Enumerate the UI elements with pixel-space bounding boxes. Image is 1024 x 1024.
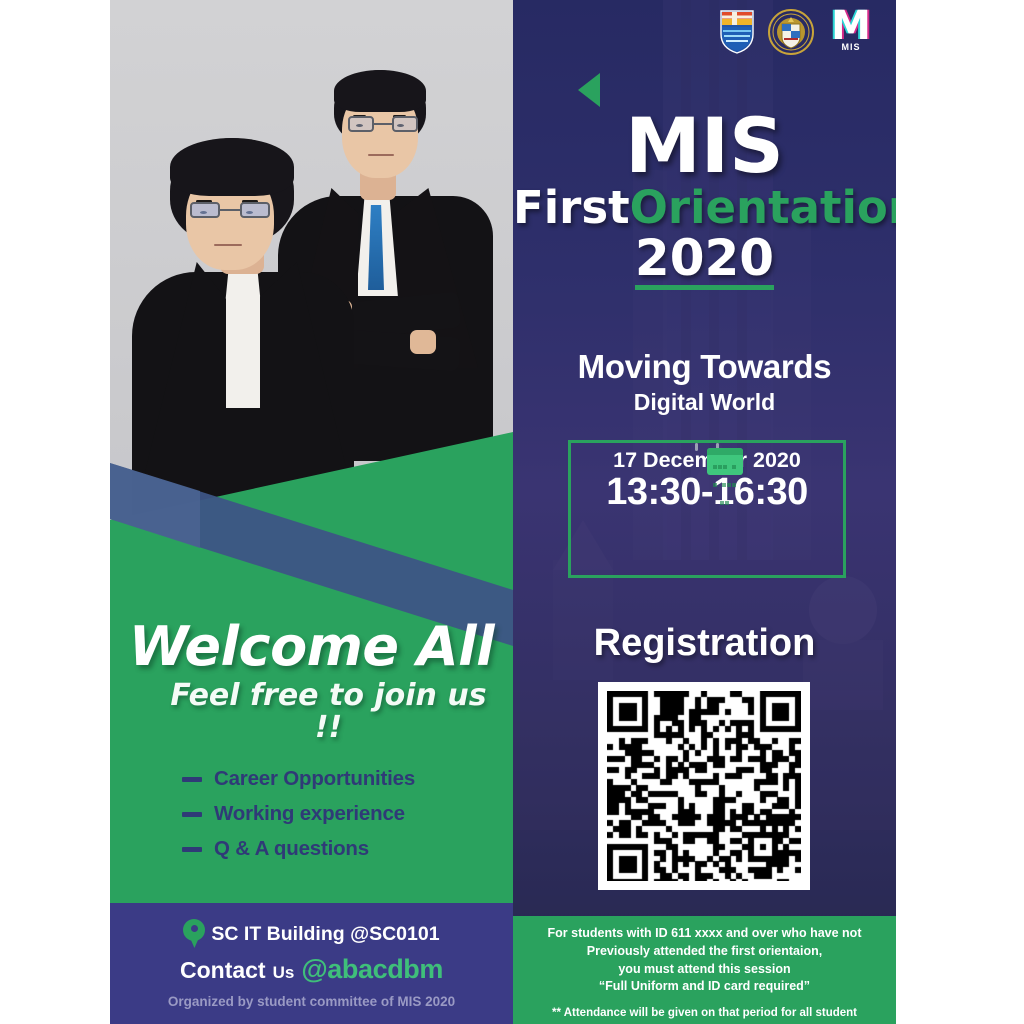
title-year-wrap: 2020 — [635, 233, 774, 290]
contact-label: Contact — [180, 957, 266, 984]
notice-footer: For students with ID 611 xxxx and over w… — [513, 916, 896, 1024]
location-pin-icon — [183, 919, 205, 949]
subtitle-secondary: Digital World — [513, 389, 896, 416]
right-column: M MIS MIS FirstOrientation 2020 Moving T… — [513, 0, 896, 1024]
list-item-label: Career Opportunities — [214, 767, 415, 791]
list-item-label: Q & A questions — [214, 837, 369, 861]
triangle-accent-icon — [578, 73, 600, 107]
subtitle-main: Moving Towards — [513, 348, 896, 386]
notice-line-2: Previously attended the first orientaion… — [525, 943, 884, 961]
mis-m-letter: M — [828, 8, 874, 44]
notice-line-3: you must attend this session — [525, 961, 884, 979]
welcome-heading: Welcome All — [124, 620, 499, 674]
registration-heading: Registration — [513, 622, 896, 665]
title-line-first-orientation: FirstOrientation — [513, 184, 896, 231]
notice-line-4: “Full Uniform and ID card required” — [525, 978, 884, 996]
mis-m-logo: M MIS — [828, 8, 874, 56]
logo-row: M MIS — [720, 8, 874, 56]
assumption-university-seal-logo — [768, 9, 814, 55]
contact-us-small: Us — [273, 963, 295, 983]
qr-canvas[interactable] — [607, 691, 801, 881]
shield-crest-logo — [720, 10, 754, 54]
dash-icon — [182, 777, 202, 782]
title-line-mis: MIS — [513, 110, 896, 182]
poster: Welcome All Feel free to join us !! Care… — [110, 0, 896, 1024]
contact-row: Contact Us @abacdbm — [110, 954, 513, 985]
venue-row: SC IT Building @SC0101 — [110, 919, 513, 949]
tagline: Feel free to join us !! — [124, 680, 499, 743]
event-time: 13:30-16:30 — [571, 473, 843, 513]
dash-icon — [182, 812, 202, 817]
title-word-orientation: Orientation — [630, 181, 896, 234]
contact-footer: SC IT Building @SC0101 Contact Us @abacd… — [110, 903, 513, 1024]
poster-title: MIS FirstOrientation 2020 — [513, 110, 896, 290]
dash-icon — [182, 847, 202, 852]
organizer-credit: Organized by student committee of MIS 20… — [110, 994, 513, 1009]
list-item: Career Opportunities — [182, 767, 499, 791]
left-column: Welcome All Feel free to join us !! Care… — [110, 0, 513, 1024]
event-datetime-box: 17 December 2020 13:30-16:30 — [568, 440, 846, 578]
registration-qr-code[interactable] — [598, 682, 810, 890]
left-headline-block: Welcome All Feel free to join us !! Care… — [110, 620, 513, 872]
venue-label: SC IT Building @SC0101 — [211, 923, 439, 946]
notice-line-1: For students with ID 611 xxxx and over w… — [525, 925, 884, 943]
list-item: Working experience — [182, 802, 499, 826]
social-handle[interactable]: @abacdbm — [301, 954, 443, 985]
notice-attendance-note: ** Attendance will be given on that peri… — [525, 1007, 884, 1019]
list-item: Q & A questions — [182, 837, 499, 861]
list-item-label: Working experience — [214, 802, 405, 826]
poster-subtitle: Moving Towards Digital World — [513, 348, 896, 416]
benefits-list: Career Opportunities Working experience … — [124, 767, 499, 861]
title-word-first: First — [513, 181, 630, 234]
title-line-year: 2020 — [635, 233, 774, 284]
